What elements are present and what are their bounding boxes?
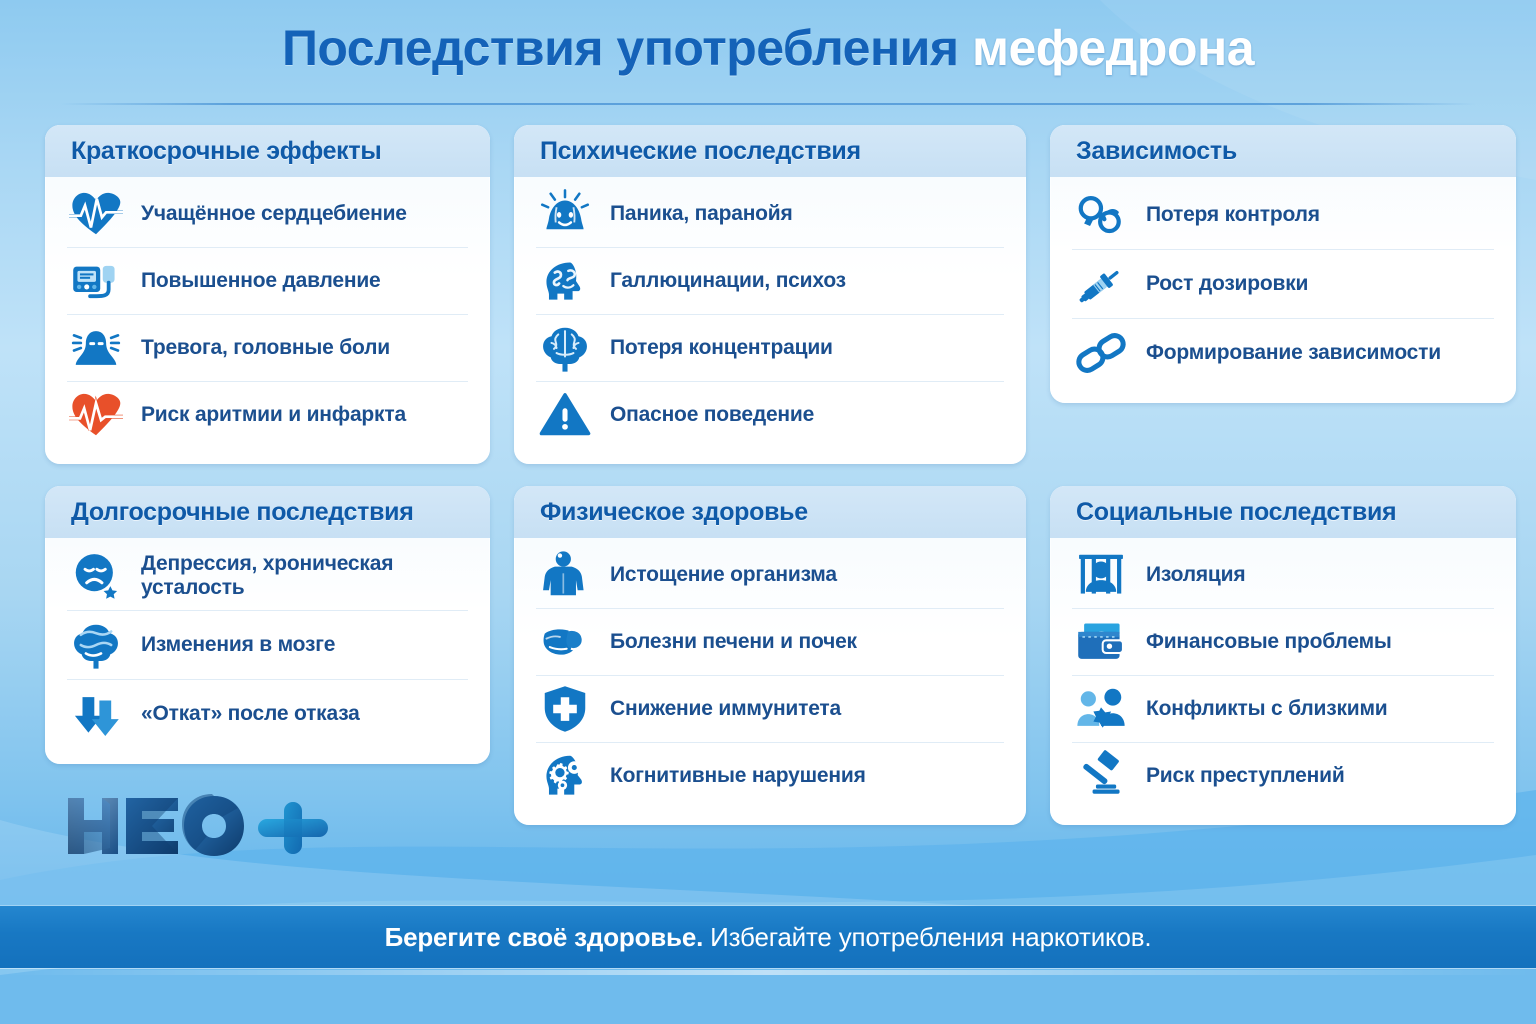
headache-person-icon — [67, 319, 125, 377]
list-item[interactable]: Галлюцинации, психоз — [536, 248, 1004, 315]
list-item-label: Рост дозировки — [1146, 272, 1308, 296]
card-header: Зависимость — [1050, 125, 1516, 177]
list-item[interactable]: Риск преступлений — [1072, 743, 1494, 809]
handcuffs-icon — [1072, 186, 1130, 244]
card-physical-health: Физическое здоровье Истощение организма … — [514, 486, 1026, 825]
thin-body-icon — [536, 546, 594, 604]
list-item[interactable]: Рост дозировки — [1072, 250, 1494, 319]
card-body: Паника, паранойя Галлюцинации, психоз По… — [514, 177, 1026, 464]
card-addiction: Зависимость Потеря контроля Рост дозиров… — [1050, 125, 1516, 403]
card-header: Краткосрочные эффекты — [45, 125, 490, 177]
list-item[interactable]: Истощение организма — [536, 542, 1004, 609]
list-item[interactable]: Паника, паранойя — [536, 181, 1004, 248]
brand-logo — [62, 790, 352, 862]
card-header: Социальные последствия — [1050, 486, 1516, 538]
cards-grid: Краткосрочные эффекты Учащённое сердцеби… — [0, 125, 1536, 825]
list-item[interactable]: Болезни печени и почек — [536, 609, 1004, 676]
list-item-label: Финансовые проблемы — [1146, 630, 1392, 654]
list-item-label: Потеря концентрации — [610, 336, 833, 360]
list-item-label: «Откат» после отказа — [141, 702, 360, 726]
page-title-part2: мефедрона — [972, 20, 1254, 76]
down-arrows-icon — [67, 685, 125, 743]
page-title: Последствия употребления мефедрона — [0, 22, 1536, 75]
footer-banner: Берегите своё здоровье. Избегайте употре… — [0, 906, 1536, 968]
list-item-label: Потеря контроля — [1146, 203, 1320, 227]
prison-bars-icon — [1072, 546, 1130, 604]
syringe-icon — [1072, 255, 1130, 313]
card-title: Долгосрочные последствия — [71, 498, 464, 527]
card-social-consequences: Социальные последствия Изоляция Финансов… — [1050, 486, 1516, 825]
footer-regular-text: Избегайте употребления наркотиков. — [703, 922, 1151, 952]
wallet-icon — [1072, 613, 1130, 671]
card-header: Физическое здоровье — [514, 486, 1026, 538]
heart-attack-icon — [67, 386, 125, 444]
list-item-label: Паника, паранойя — [610, 202, 793, 226]
conflict-people-icon — [1072, 680, 1130, 738]
card-header: Психические последствия — [514, 125, 1026, 177]
liver-kidney-icon — [536, 613, 594, 671]
list-item-label: Депрессия, хроническая усталость — [141, 552, 468, 600]
list-item-label: Формирование зависимости — [1146, 341, 1441, 365]
card-title: Социальные последствия — [1076, 498, 1490, 527]
card-body: Депрессия, хроническая усталость Изменен… — [45, 538, 490, 764]
footer-shine — [0, 970, 1536, 975]
shield-cross-icon — [536, 680, 594, 738]
list-item[interactable]: Потеря концентрации — [536, 315, 1004, 382]
panic-face-icon — [536, 185, 594, 243]
list-item[interactable]: Формирование зависимости — [1072, 319, 1494, 387]
list-item-label: Болезни печени и почек — [610, 630, 857, 654]
list-item-label: Конфликты с близкими — [1146, 697, 1388, 721]
list-item-label: Истощение организма — [610, 563, 837, 587]
head-gears-icon — [536, 747, 594, 805]
card-title: Психические последствия — [540, 137, 1000, 166]
list-item[interactable]: Тревога, головные боли — [67, 315, 468, 382]
card-title: Зависимость — [1076, 137, 1490, 166]
list-item-label: Повышенное давление — [141, 269, 381, 293]
list-item[interactable]: Потеря контроля — [1072, 181, 1494, 250]
list-item[interactable]: Конфликты с близкими — [1072, 676, 1494, 743]
list-item[interactable]: «Откат» после отказа — [67, 680, 468, 748]
list-item-label: Учащённое сердцебиение — [141, 202, 407, 226]
title-divider — [60, 103, 1476, 105]
card-body: Истощение организма Болезни печени и поч… — [514, 538, 1026, 825]
list-item[interactable]: Когнитивные нарушения — [536, 743, 1004, 809]
brain-icon — [536, 319, 594, 377]
list-item[interactable]: Риск аритмии и инфаркта — [67, 382, 468, 448]
hallucination-head-icon — [536, 252, 594, 310]
heart-pulse-icon — [67, 185, 125, 243]
card-title: Физическое здоровье — [540, 498, 1000, 527]
card-long-term-consequences: Долгосрочные последствия Депрессия, хрон… — [45, 486, 490, 764]
list-item-label: Опасное поведение — [610, 403, 814, 427]
sad-face-icon — [67, 547, 125, 605]
list-item-label: Галлюцинации, психоз — [610, 269, 846, 293]
list-item[interactable]: Снижение иммунитета — [536, 676, 1004, 743]
card-title: Краткосрочные эффекты — [71, 137, 464, 166]
card-body: Потеря контроля Рост дозировки Формирова… — [1050, 177, 1516, 403]
list-item[interactable]: Повышенное давление — [67, 248, 468, 315]
card-body: Изоляция Финансовые проблемы Конфликты с… — [1050, 538, 1516, 825]
list-item[interactable]: Опасное поведение — [536, 382, 1004, 448]
list-item-label: Тревога, головные боли — [141, 336, 390, 360]
list-item[interactable]: Финансовые проблемы — [1072, 609, 1494, 676]
card-body: Учащённое сердцебиение Повышенное давлен… — [45, 177, 490, 464]
brain-change-icon — [67, 616, 125, 674]
gavel-icon — [1072, 747, 1130, 805]
chain-link-icon — [1072, 324, 1130, 382]
blood-pressure-monitor-icon — [67, 252, 125, 310]
list-item[interactable]: Изменения в мозге — [67, 611, 468, 680]
list-item-label: Изоляция — [1146, 563, 1245, 587]
list-item[interactable]: Депрессия, хроническая усталость — [67, 542, 468, 611]
list-item[interactable]: Учащённое сердцебиение — [67, 181, 468, 248]
list-item-label: Когнитивные нарушения — [610, 764, 866, 788]
list-item-label: Риск аритмии и инфаркта — [141, 403, 406, 427]
warning-triangle-icon — [536, 386, 594, 444]
list-item-label: Изменения в мозге — [141, 633, 335, 657]
list-item-label: Снижение иммунитета — [610, 697, 841, 721]
footer-message: Берегите своё здоровье. Избегайте употре… — [385, 922, 1152, 953]
card-header: Долгосрочные последствия — [45, 486, 490, 538]
list-item-label: Риск преступлений — [1146, 764, 1345, 788]
page-title-part1: Последствия употребления — [282, 20, 959, 76]
card-short-term-effects: Краткосрочные эффекты Учащённое сердцеби… — [45, 125, 490, 464]
card-mental-consequences: Психические последствия Паника, паранойя — [514, 125, 1026, 464]
footer-bold-text: Берегите своё здоровье. — [385, 922, 704, 952]
list-item[interactable]: Изоляция — [1072, 542, 1494, 609]
